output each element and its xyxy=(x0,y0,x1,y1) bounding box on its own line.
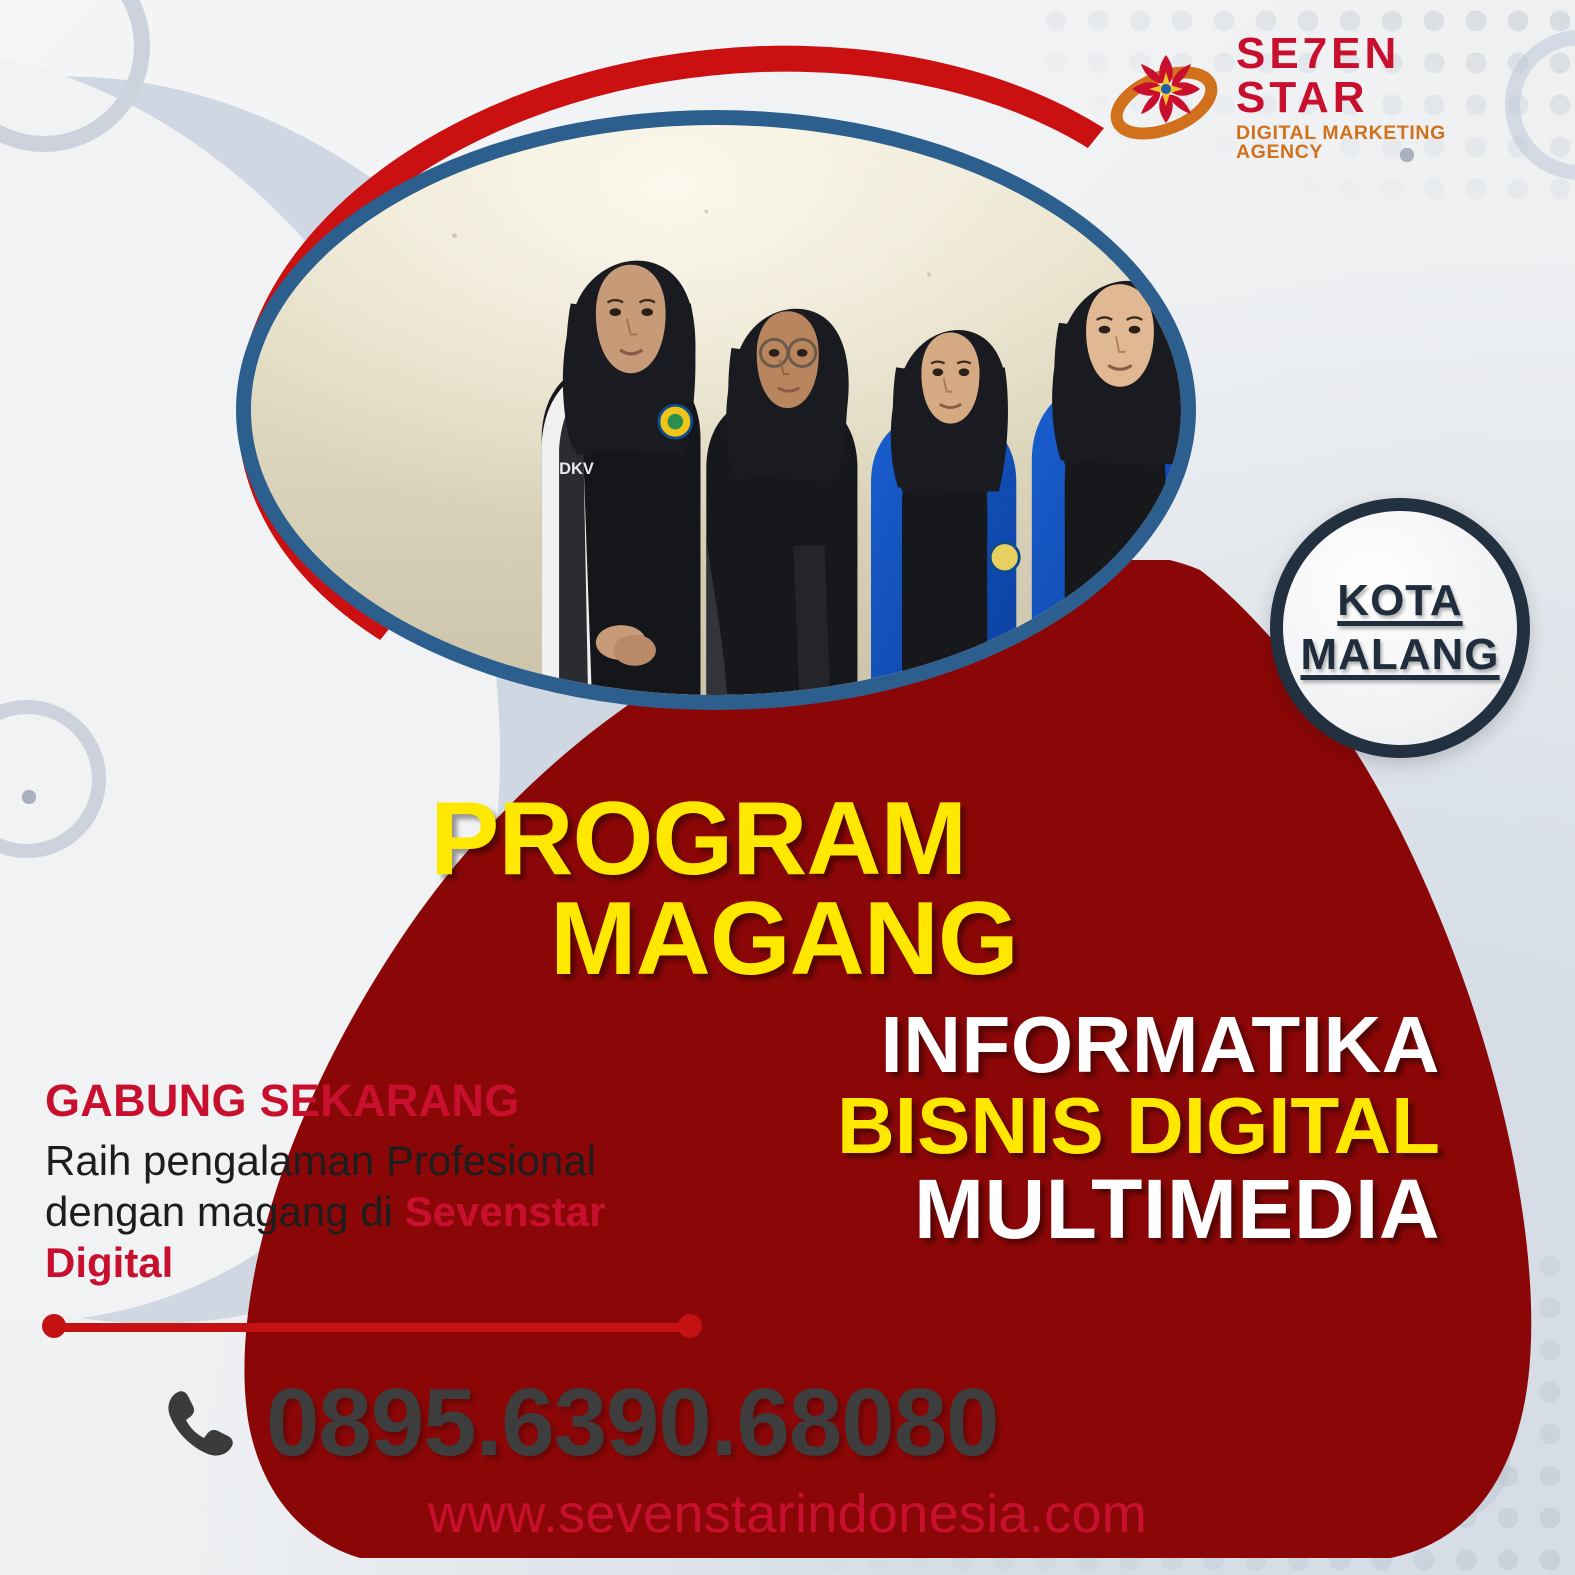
headline-line-1: PROGRAM xyxy=(430,790,1440,890)
photo-oval-border: DKV xyxy=(236,110,1196,710)
team-photo: DKV xyxy=(251,125,1181,695)
cta-block: GABUNG SEKARANG Raih pengalaman Profesio… xyxy=(45,1075,725,1289)
phone-row[interactable]: 0895.6390.68080 xyxy=(162,1368,998,1478)
badge-line-2: MALANG xyxy=(1300,628,1499,682)
decorative-dot-grid-left xyxy=(22,790,84,852)
headline-line-3: INFORMATIKA xyxy=(430,1004,1440,1086)
kota-malang-badge: KOTA MALANG xyxy=(1270,498,1530,758)
photo-frame: DKV xyxy=(236,110,1196,710)
svg-text:DKV: DKV xyxy=(559,460,594,478)
poster-canvas: DKV xyxy=(0,0,1575,1575)
headline-line-2: MAGANG xyxy=(430,890,1440,990)
phone-number: 0895.6390.68080 xyxy=(266,1368,998,1478)
logo-title: SE7EN STAR xyxy=(1236,32,1508,120)
brand-logo: SE7EN STAR DIGITAL MARKETING AGENCY xyxy=(1108,42,1508,152)
phone-handset-icon xyxy=(162,1384,240,1462)
logo-subtitle: DIGITAL MARKETING AGENCY xyxy=(1236,124,1508,163)
cta-title: GABUNG SEKARANG xyxy=(45,1075,725,1127)
website-url[interactable]: www.sevenstarindonesia.com xyxy=(0,1483,1575,1545)
star-burst-icon xyxy=(1108,45,1226,149)
badge-line-1: KOTA xyxy=(1337,574,1462,628)
cta-body: Raih pengalaman Profesional dengan magan… xyxy=(45,1135,725,1289)
red-divider xyxy=(42,1320,702,1332)
